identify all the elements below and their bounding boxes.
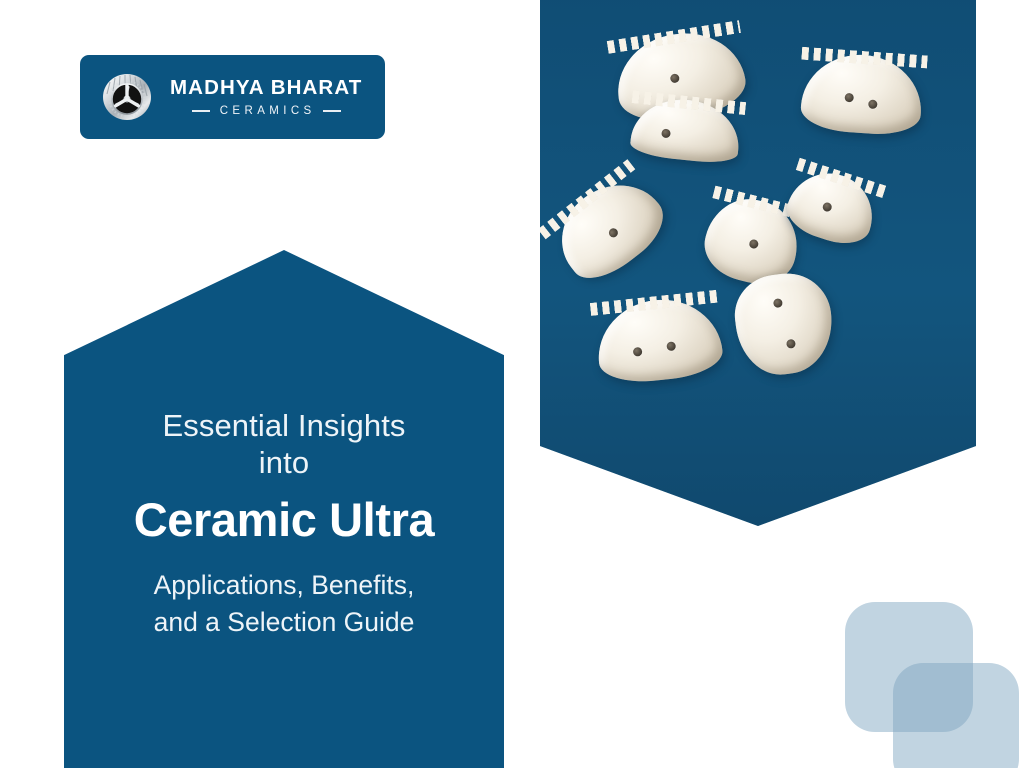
eyebrow-line-2: into [64, 445, 504, 482]
tagline-rule-left [192, 110, 210, 112]
subline-line-1: Applications, Benefits, [64, 568, 504, 603]
ceramic-ring-emblem-icon [98, 68, 156, 126]
ceramic-saddle-piece [799, 51, 924, 137]
ceramic-saddle-piece [730, 268, 837, 379]
saddle-hole [632, 346, 642, 356]
ceramic-saddle-piece [593, 294, 725, 387]
saddle-hole [670, 73, 680, 83]
ceramic-products-group [540, 0, 976, 526]
saddle-serration [589, 289, 720, 316]
saddle-hole [607, 227, 620, 240]
saddle-serration [607, 20, 741, 54]
brand-wordmark: MADHYA BHARAT CERAMICS [170, 77, 362, 117]
saddle-serration [795, 157, 887, 198]
cover-canvas: MADHYA BHARAT CERAMICS [0, 0, 1024, 768]
tagline-rule-right [323, 110, 341, 112]
headline-panel: Essential Insights into Ceramic Ultra Ap… [64, 250, 504, 768]
hero-photo-panel [540, 0, 976, 526]
brand-tagline: CERAMICS [210, 105, 323, 117]
brand-name: MADHYA BHARAT [170, 77, 362, 99]
saddle-hole [844, 93, 854, 103]
decorative-rounded-square-front [893, 663, 1019, 768]
saddle-serration [801, 47, 928, 69]
brand-logo-badge[interactable]: MADHYA BHARAT CERAMICS [80, 55, 385, 139]
ceramic-saddle-piece [543, 164, 676, 292]
saddle-hole [868, 99, 878, 109]
page-title: Ceramic Ultra [64, 495, 504, 546]
saddle-hole [821, 201, 832, 212]
eyebrow-line-1: Essential Insights [64, 408, 504, 445]
subline-line-2: and a Selection Guide [64, 605, 504, 640]
saddle-hole [748, 239, 759, 250]
saddle-hole [666, 341, 676, 351]
saddle-hole [661, 129, 671, 139]
brand-tagline-row: CERAMICS [170, 105, 362, 117]
saddle-serration [540, 159, 636, 239]
saddle-hole [773, 298, 783, 308]
saddle-hole [786, 338, 796, 348]
